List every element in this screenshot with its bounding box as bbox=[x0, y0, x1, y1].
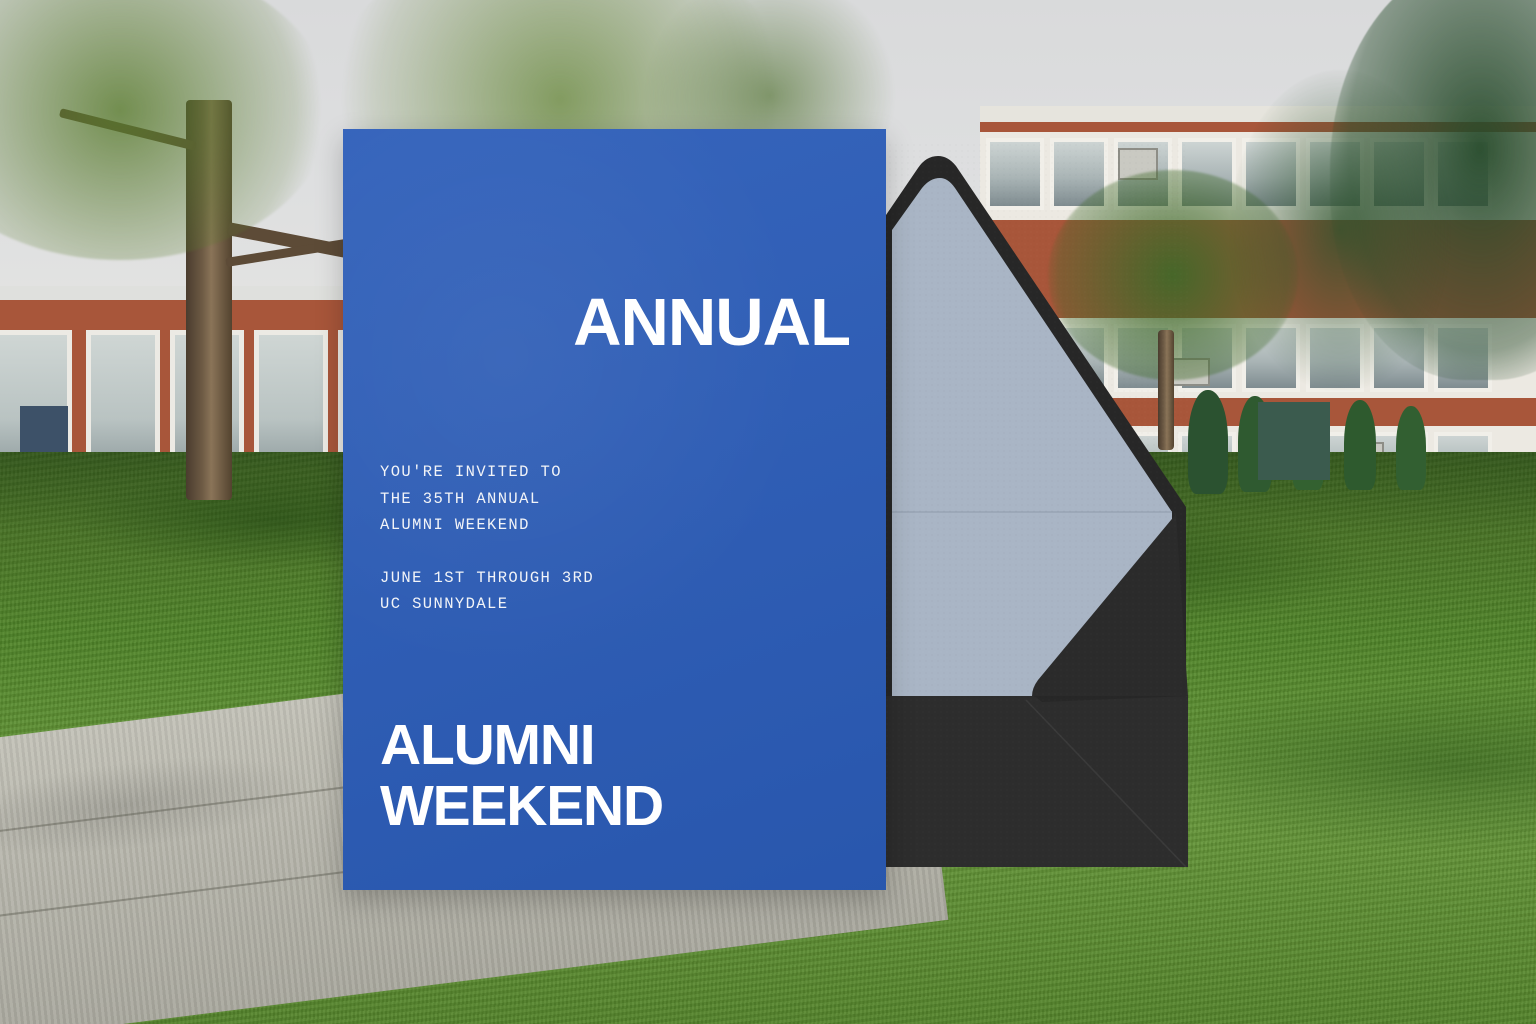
envelope-grain bbox=[886, 140, 1188, 867]
hedge-tree bbox=[1396, 406, 1426, 490]
details-line-2: UC SUNNYDALE bbox=[380, 595, 508, 613]
details-line-1: JUNE 1ST THROUGH 3RD bbox=[380, 569, 594, 587]
invitation-card: ANNUAL YOU'RE INVITED TO THE 35TH ANNUAL… bbox=[343, 129, 886, 890]
card-title: ANNUAL bbox=[343, 289, 850, 356]
hedge-tree bbox=[1188, 390, 1228, 494]
body-line-3: ALUMNI WEEKEND bbox=[380, 516, 530, 534]
envelope-svg bbox=[886, 140, 1188, 867]
body-line-1: YOU'RE INVITED TO bbox=[380, 463, 562, 481]
envelope bbox=[886, 140, 1188, 867]
body-line-2: THE 35TH ANNUAL bbox=[380, 490, 541, 508]
footer-line-2: WEEKEND bbox=[380, 776, 663, 837]
card-footer-heading: ALUMNI WEEKEND bbox=[380, 715, 663, 837]
fence-panel bbox=[1258, 402, 1330, 480]
card-body-text: YOU'RE INVITED TO THE 35TH ANNUAL ALUMNI… bbox=[380, 459, 594, 618]
body-spacer bbox=[380, 539, 594, 565]
conifer-tree bbox=[1230, 70, 1450, 390]
mockup-canvas: ANNUAL YOU'RE INVITED TO THE 35TH ANNUAL… bbox=[0, 0, 1536, 1024]
footer-line-1: ALUMNI bbox=[380, 715, 663, 776]
hedge-tree bbox=[1344, 400, 1376, 490]
